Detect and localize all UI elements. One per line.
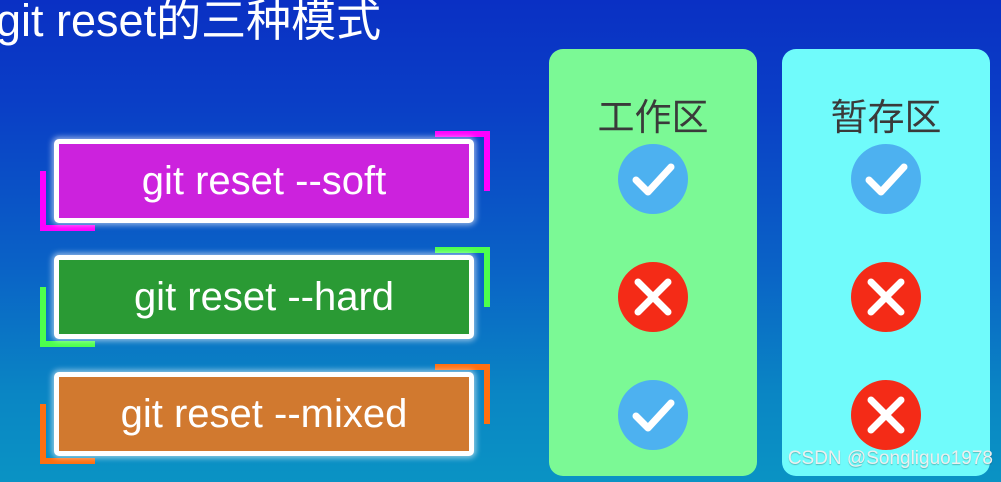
reset-mode-row[interactable]: git reset --mixed xyxy=(40,364,490,464)
bracket-segment xyxy=(40,458,95,464)
zone-title: 暂存区 xyxy=(782,99,990,136)
bracket-segment xyxy=(484,247,490,307)
reset-mode-label: git reset --hard xyxy=(134,277,394,317)
page-title: git reset的三种模式 xyxy=(0,0,516,48)
reset-mode-label: git reset --mixed xyxy=(121,394,408,434)
bracket-segment xyxy=(484,131,490,191)
bracket-segment xyxy=(40,287,46,347)
reset-mode-row[interactable]: git reset --hard xyxy=(40,247,490,347)
watermark-text: CSDN @Songliguo1978 xyxy=(788,448,993,470)
check-circle-icon xyxy=(618,380,688,450)
reset-mode-button[interactable]: git reset --mixed xyxy=(54,372,474,456)
reset-mode-row[interactable]: git reset --soft xyxy=(40,131,490,231)
bracket-segment xyxy=(40,225,95,231)
bracket-segment xyxy=(435,364,490,370)
reset-mode-label: git reset --soft xyxy=(142,161,387,201)
slide-canvas: git reset的三种模式 git reset --softgit reset… xyxy=(0,0,1001,482)
bracket-segment xyxy=(40,341,95,347)
cross-circle-icon xyxy=(851,380,921,450)
bracket-segment xyxy=(435,247,490,253)
zone-title: 工作区 xyxy=(549,99,757,136)
bracket-segment xyxy=(40,171,46,231)
bracket-segment xyxy=(484,364,490,424)
bracket-segment xyxy=(40,404,46,464)
cross-circle-icon xyxy=(851,262,921,332)
check-circle-icon xyxy=(618,144,688,214)
reset-mode-button[interactable]: git reset --hard xyxy=(54,255,474,339)
check-circle-icon xyxy=(851,144,921,214)
reset-mode-button[interactable]: git reset --soft xyxy=(54,139,474,223)
cross-circle-icon xyxy=(618,262,688,332)
bracket-segment xyxy=(435,131,490,137)
